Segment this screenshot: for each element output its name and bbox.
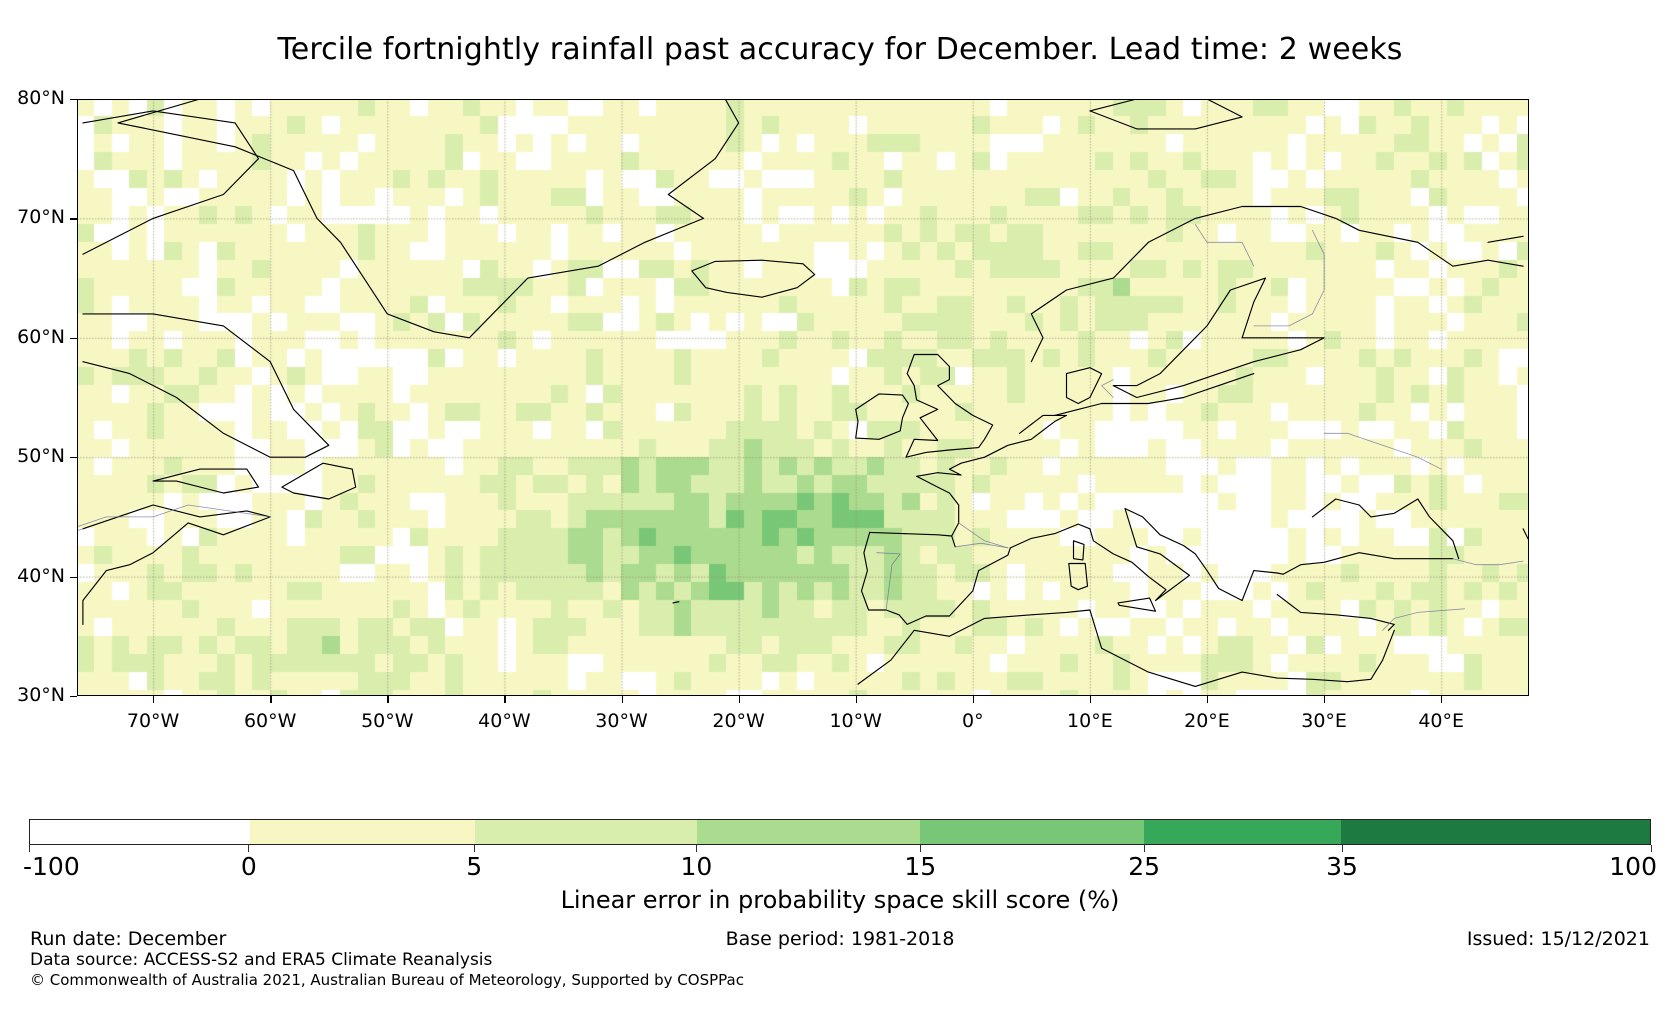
coastline-path-13 [856, 394, 909, 439]
colorbar-label: Linear error in probability space skill … [0, 886, 1680, 914]
coastline-path-3 [83, 314, 329, 457]
lon-tick [973, 696, 974, 703]
lon-tick [856, 696, 857, 703]
border-path-5 [1195, 224, 1254, 266]
coastline-path-24 [1118, 598, 1156, 611]
colorbar-band-5 [1144, 820, 1342, 844]
lon-label-4: 30°W [562, 710, 682, 732]
lon-label-3: 40°W [444, 710, 564, 732]
data-source-text: Data source: ACCESS-S2 and ERA5 Climate … [30, 950, 492, 970]
lat-tick [70, 696, 77, 697]
border-path-1 [877, 553, 900, 610]
colorbar-tick-label-4: 15 [840, 852, 1000, 881]
border-path-4 [1102, 380, 1114, 398]
coastline-path-14 [870, 532, 956, 546]
lat-tick [70, 577, 77, 578]
coastline-path-0 [118, 99, 739, 338]
colorbar-tick-label-3: 10 [616, 852, 776, 881]
coastline-path-22 [1074, 541, 1085, 560]
map-panel[interactable] [77, 99, 1529, 696]
colorbar-tick-label-7: 100 [1609, 852, 1657, 881]
lat-label-3: 50°N [17, 445, 65, 467]
coastline-path-7 [1031, 207, 1523, 362]
coastline-path-19 [1312, 499, 1458, 559]
colorbar-tick-label-1: 0 [169, 852, 329, 881]
coastline-path-6 [153, 469, 258, 493]
coastline-path-16 [1010, 509, 1283, 601]
lon-label-9: 20°E [1147, 710, 1267, 732]
page-title: Tercile fortnightly rainfall past accura… [0, 32, 1680, 67]
colorbar-band-6 [1341, 820, 1650, 844]
lon-label-7: 0° [913, 710, 1033, 732]
coastline-path-23 [1069, 564, 1088, 590]
colorbar-band-4 [920, 820, 1144, 844]
coastline-path-11 [917, 415, 1067, 536]
coastline-overlay [77, 99, 1529, 696]
coastline-path-25 [1090, 99, 1242, 129]
coastline-path-5 [83, 505, 270, 624]
colorbar-band-2 [475, 820, 697, 844]
lon-label-1: 60°W [210, 710, 330, 732]
base-period-text: Base period: 1981-2018 [0, 928, 1680, 950]
colorbar-tick-7 [1651, 845, 1652, 852]
lon-label-11: 40°E [1381, 710, 1501, 732]
lon-tick [1324, 696, 1325, 703]
colorbar-band-0 [30, 820, 250, 844]
lon-tick [387, 696, 388, 703]
border-path-8 [1324, 433, 1441, 469]
lon-tick [739, 696, 740, 703]
lat-label-2: 60°N [17, 326, 65, 348]
coastline-path-27 [673, 602, 679, 603]
colorbar-tick-4 [920, 845, 921, 852]
lon-tick [1441, 696, 1442, 703]
colorbar-band-1 [250, 820, 475, 844]
border-path-2 [959, 523, 1008, 548]
colorbar-tick-label-5: 25 [1064, 852, 1224, 881]
coastline-path-8 [1113, 278, 1324, 397]
colorbar[interactable] [29, 819, 1651, 845]
lon-label-6: 10°W [796, 710, 916, 732]
border-path-9 [77, 505, 270, 529]
colorbar-tick-label-2: 5 [394, 852, 554, 881]
lat-label-0: 80°N [17, 87, 65, 109]
coastline-path-12 [906, 355, 993, 458]
colorbar-tick-3 [696, 845, 697, 852]
lat-label-4: 40°N [17, 565, 65, 587]
colorbar-band-3 [697, 820, 921, 844]
coastline-path-10 [1055, 374, 1254, 416]
issued-date-text: Issued: 15/12/2021 [1467, 928, 1650, 950]
lon-tick [504, 696, 505, 703]
copyright-text: © Commonwealth of Australia 2021, Austra… [30, 971, 744, 989]
coastline-path-9 [1067, 368, 1102, 404]
colorbar-tick-1 [248, 845, 249, 852]
lon-label-5: 20°W [679, 710, 799, 732]
lat-label-1: 70°N [17, 206, 65, 228]
lat-tick [70, 99, 77, 100]
lon-label-10: 30°E [1264, 710, 1384, 732]
coastline-path-4 [282, 463, 356, 499]
lat-label-5: 30°N [17, 684, 65, 706]
colorbar-tick-label-0: -100 [23, 852, 80, 881]
lon-label-2: 50°W [327, 710, 447, 732]
coastline-path-20 [1523, 529, 1529, 595]
lon-tick [270, 696, 271, 703]
border-path-6 [1383, 609, 1465, 631]
border-path-7 [1453, 559, 1523, 565]
lon-tick [1207, 696, 1208, 703]
coastline-path-18 [1277, 595, 1394, 631]
lon-label-8: 10°E [1030, 710, 1150, 732]
border-path-10 [77, 469, 83, 541]
lon-tick [153, 696, 154, 703]
lon-tick [1090, 696, 1091, 703]
colorbar-tick-6 [1342, 845, 1343, 852]
lat-tick [70, 218, 77, 219]
coastline-path-2 [83, 111, 259, 254]
coastline-path-15 [862, 532, 1011, 624]
coastline-path-1 [692, 260, 815, 297]
colorbar-tick-0 [29, 845, 30, 852]
colorbar-tick-5 [1144, 845, 1145, 852]
colorbar-tick-label-6: 35 [1262, 852, 1422, 881]
coastline-path-21 [858, 610, 1394, 686]
lat-tick [70, 457, 77, 458]
colorbar-tick-2 [474, 845, 475, 852]
lon-tick [622, 696, 623, 703]
lat-tick [70, 338, 77, 339]
lon-label-0: 70°W [93, 710, 213, 732]
coastline-path-17 [1283, 553, 1453, 575]
coastline-path-26 [1488, 236, 1523, 242]
